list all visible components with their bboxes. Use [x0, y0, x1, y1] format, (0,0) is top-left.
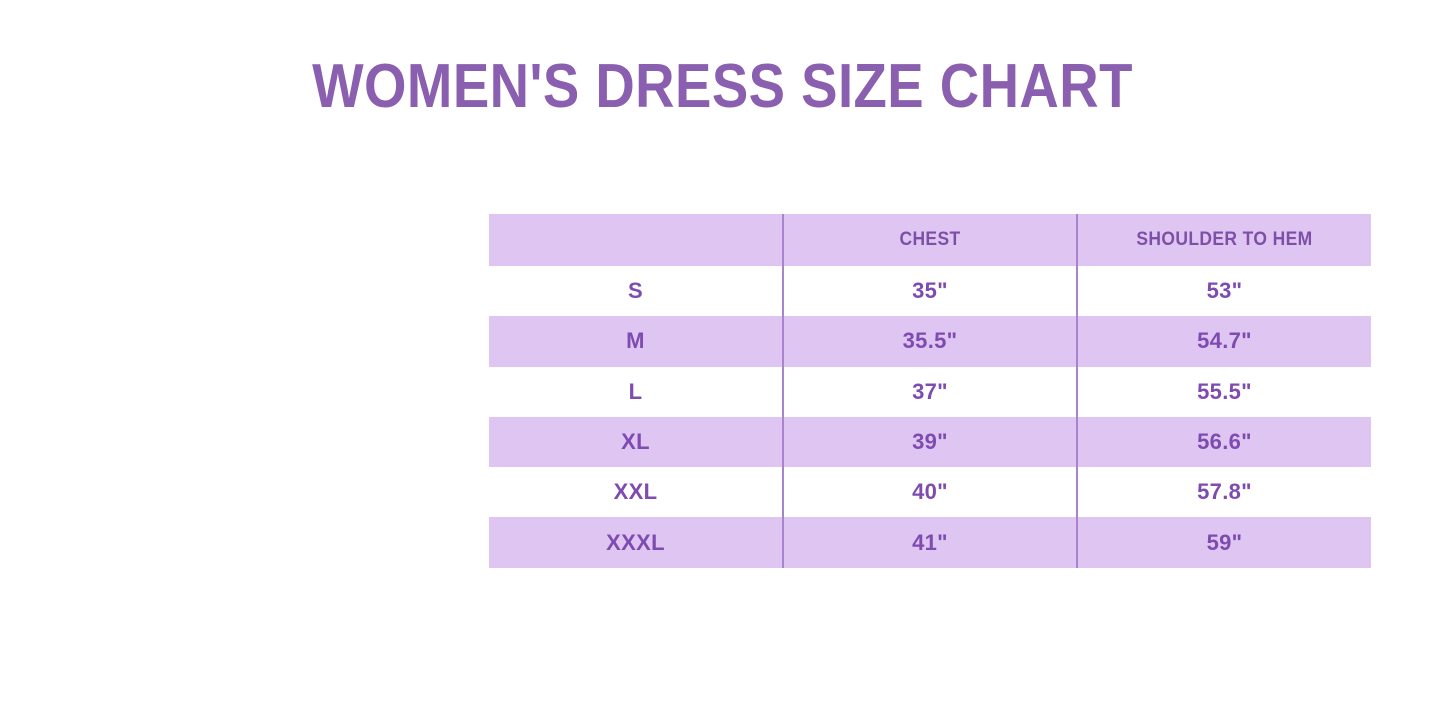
cell-shoulder-to-hem: 57.8": [1077, 467, 1371, 517]
table-header-row: CHEST SHOULDER TO HEM: [489, 214, 1371, 266]
cell-size: S: [489, 266, 783, 316]
table-row: XL 39" 56.6": [489, 417, 1371, 467]
column-header-size: [501, 214, 771, 266]
cell-chest: 41": [783, 517, 1077, 567]
cell-shoulder-to-hem: 53": [1077, 266, 1371, 316]
size-chart-table: CHEST SHOULDER TO HEM S 35" 53" M 35.5" …: [489, 214, 1371, 568]
cell-chest: 40": [783, 467, 1077, 517]
cell-size: XXL: [489, 467, 783, 517]
size-chart-page: WOMEN'S DRESS SIZE CHART CHEST SHOULDER …: [0, 0, 1445, 723]
size-chart-table-container: CHEST SHOULDER TO HEM S 35" 53" M 35.5" …: [489, 214, 1371, 568]
cell-size: M: [489, 316, 783, 366]
cell-shoulder-to-hem: 55.5": [1077, 367, 1371, 417]
cell-shoulder-to-hem: 54.7": [1077, 316, 1371, 366]
cell-size: XXXL: [489, 517, 783, 567]
table-row: S 35" 53": [489, 266, 1371, 316]
table-row: XXXL 41" 59": [489, 517, 1371, 567]
cell-size: XL: [489, 417, 783, 467]
cell-chest: 35": [783, 266, 1077, 316]
table-header: CHEST SHOULDER TO HEM: [489, 214, 1371, 266]
page-title: WOMEN'S DRESS SIZE CHART: [87, 54, 1359, 119]
column-header-shoulder-to-hem: SHOULDER TO HEM: [1089, 214, 1359, 266]
cell-chest: 39": [783, 417, 1077, 467]
table-row: M 35.5" 54.7": [489, 316, 1371, 366]
cell-chest: 37": [783, 367, 1077, 417]
cell-shoulder-to-hem: 56.6": [1077, 417, 1371, 467]
cell-size: L: [489, 367, 783, 417]
table-row: XXL 40" 57.8": [489, 467, 1371, 517]
cell-shoulder-to-hem: 59": [1077, 517, 1371, 567]
table-body: S 35" 53" M 35.5" 54.7" L 37" 55.5" XL 3…: [489, 266, 1371, 568]
cell-chest: 35.5": [783, 316, 1077, 366]
table-row: L 37" 55.5": [489, 367, 1371, 417]
column-header-chest: CHEST: [795, 214, 1065, 266]
